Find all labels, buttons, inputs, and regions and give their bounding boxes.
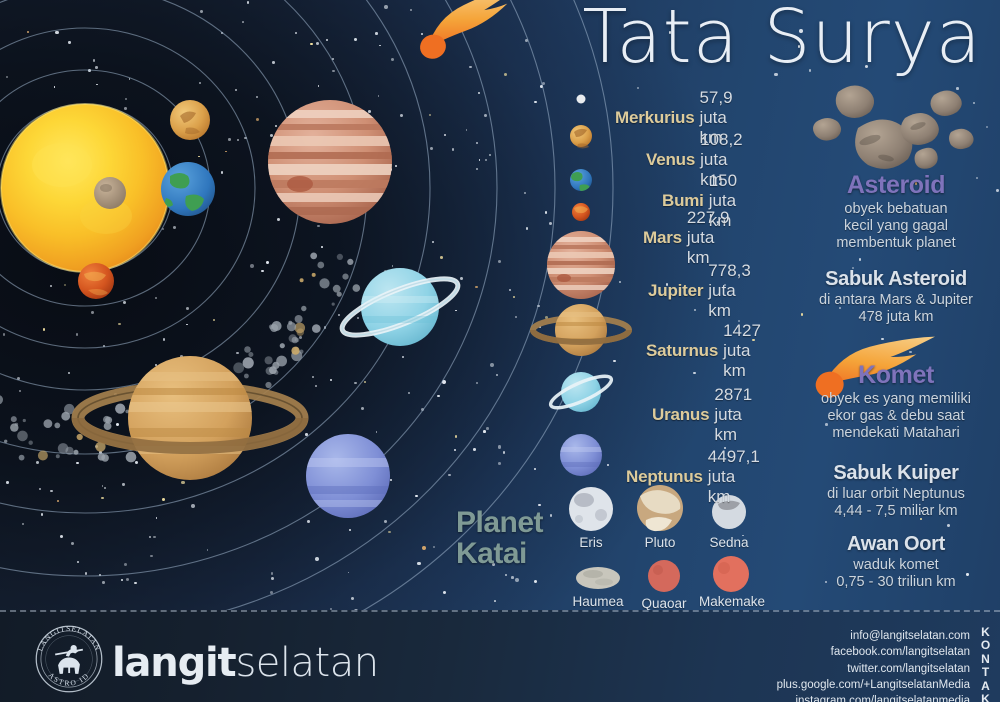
contact-email[interactable]: info@langitselatan.com <box>777 628 970 644</box>
contact-googleplus[interactable]: plus.google.com/+LangitselatanMedia <box>777 677 970 693</box>
comet-desc-line3: mendekati Matahari <box>800 425 992 442</box>
svg-text:ASTRO ID: ASTRO ID <box>47 671 92 688</box>
jupiter-body-diagram <box>268 100 392 224</box>
asteroid-block: Asteroid obyek bebatuan kecil yang gagal… <box>800 172 992 252</box>
comet-desc-line1: obyek es yang memiliki <box>800 391 992 408</box>
kontak-vertical-label: K O N T A K <box>979 626 993 702</box>
dwarf-label-sedna: Sedna <box>701 535 757 550</box>
mars-body-diagram <box>78 263 114 299</box>
planet-name-mars: Mars <box>643 228 682 248</box>
dwarf-planet-makemake: Makemake <box>696 592 768 609</box>
langitselatan-logo-icon: LANGITSELATAN ASTRO ID <box>30 620 108 698</box>
kuiper-belt-desc-line1: di luar orbit Neptunus <box>800 486 992 503</box>
planet-row-saturnus: Saturnus 1427 juta km <box>646 321 761 381</box>
kontak-letter-n: N <box>979 653 993 666</box>
contact-instagram[interactable]: instagram.com/langitselatanmedia <box>777 693 970 702</box>
mercury-body-diagram <box>94 177 126 209</box>
contact-twitter[interactable]: twitter.com/langitselatan <box>777 661 970 677</box>
planet-distance-jupiter: 778,3 juta km <box>708 261 751 321</box>
kontak-letter-t: T <box>979 666 993 679</box>
planet-row-mars: Mars 227,9 juta km <box>643 208 729 268</box>
planet-distance-mars: 227,9 juta km <box>687 208 730 268</box>
planet-name-venus: Venus <box>646 150 695 170</box>
uranus-icon <box>547 370 615 413</box>
earth-body-diagram <box>161 162 215 216</box>
venus-icon <box>570 125 592 149</box>
comet-illustration-top <box>410 0 535 62</box>
uranus-body-diagram <box>336 268 464 346</box>
dwarf-quaoar-icon <box>648 560 680 592</box>
planet-distance-uranus: 2871 juta km <box>714 385 752 445</box>
kuiper-belt-desc-line2: 4,44 - 7,5 miliar km <box>800 503 992 520</box>
kontak-letter-k1: K <box>979 626 993 639</box>
dwarf-planet-heading: Planet Katai <box>456 508 543 569</box>
dwarf-label-haumea: Haumea <box>566 594 630 609</box>
brand-wordmark: langitselatan <box>112 640 379 686</box>
comet-desc-line2: ekor gas & debu saat <box>800 408 992 425</box>
asteroid-heading: Asteroid <box>800 172 992 198</box>
saturn-icon <box>533 304 629 356</box>
dwarf-heading-line1: Planet <box>456 508 543 539</box>
dwarf-eris-icon <box>569 487 613 531</box>
mercury-icon <box>577 95 586 104</box>
oort-cloud-heading: Awan Oort <box>800 533 992 555</box>
planet-name-saturnus: Saturnus <box>646 341 718 361</box>
dwarf-label-pluto: Pluto <box>632 535 688 550</box>
dwarf-haumea-icon <box>576 567 620 589</box>
asteroid-belt-heading: Sabuk Asteroid <box>800 268 992 290</box>
dwarf-label-makemake: Makemake <box>696 594 768 609</box>
comet-block: Komet obyek es yang memiliki ekor gas & … <box>800 362 992 442</box>
starfield <box>0 0 1000 702</box>
planet-name-jupiter: Jupiter <box>648 281 703 301</box>
contact-facebook[interactable]: facebook.com/langitselatan <box>777 644 970 660</box>
planet-row-jupiter: Jupiter 778,3 juta km <box>648 261 751 321</box>
oort-cloud-block: Awan Oort waduk komet 0,75 - 30 triliun … <box>800 533 992 591</box>
planet-name-neptunus: Neptunus <box>626 467 703 487</box>
logo-centaur-figure <box>55 645 83 674</box>
brand-light: selatan <box>235 640 378 686</box>
neptune-body-diagram <box>304 434 394 518</box>
kontak-letter-k2: K <box>979 693 993 702</box>
asteroid-desc-line1: obyek bebatuan <box>800 201 992 218</box>
saturn-body-diagram <box>78 356 302 480</box>
footer: LANGITSELATAN ASTRO ID langitselatan inf… <box>0 610 1000 702</box>
oort-cloud-desc-line2: 0,75 - 30 triliun km <box>800 574 992 591</box>
earth-icon <box>570 169 592 193</box>
comet-heading: Komet <box>800 362 992 388</box>
venus-body-diagram <box>170 100 210 140</box>
kuiper-belt-block: Sabuk Kuiper di luar orbit Neptunus 4,44… <box>800 462 992 520</box>
neptune-icon <box>559 434 605 476</box>
orbit-diagram <box>0 0 1000 702</box>
contact-list: info@langitselatan.com facebook.com/lang… <box>777 628 970 702</box>
kuiper-belt-heading: Sabuk Kuiper <box>800 462 992 484</box>
planet-name-merkurius: Merkurius <box>615 108 694 128</box>
planet-row-uranus: Uranus 2871 juta km <box>652 385 752 445</box>
brand-bold: langit <box>112 640 235 686</box>
asteroid-desc-line3: membentuk planet <box>800 235 992 252</box>
dwarf-planet-eris: Eris <box>563 533 619 550</box>
asteroid-belt-scatter <box>0 253 360 463</box>
jupiter-icon <box>546 231 618 299</box>
svg-text:LANGITSELATAN: LANGITSELATAN <box>35 624 103 652</box>
dwarf-label-quaoar: Quaoar <box>634 596 694 611</box>
dwarf-planet-quaoar: Quaoar <box>634 594 694 611</box>
asteroid-belt-desc-line2: 478 juta km <box>800 309 992 326</box>
asteroid-belt-desc-line1: di antara Mars & Jupiter <box>800 292 992 309</box>
planet-distance-neptunus: 4497,1 juta km <box>708 447 760 507</box>
orbit-rings <box>0 0 613 685</box>
sun-body <box>1 104 169 272</box>
planet-distance-saturnus: 1427 juta km <box>723 321 761 381</box>
kontak-letter-o: O <box>979 639 993 652</box>
logo-arc-top-text: LANGITSELATAN <box>35 624 103 652</box>
dwarf-heading-line2: Katai <box>456 539 543 570</box>
planet-row-neptunus: Neptunus 4497,1 juta km <box>626 447 760 507</box>
logo-arc-bottom-text: ASTRO ID <box>47 671 92 688</box>
dwarf-label-eris: Eris <box>563 535 619 550</box>
infographic-poster: Tata Surya Merkurius 57,9 juta km Venus … <box>0 0 1000 702</box>
planet-name-uranus: Uranus <box>652 405 709 425</box>
asteroid-belt-block: Sabuk Asteroid di antara Mars & Jupiter … <box>800 268 992 326</box>
dwarf-makemake-icon <box>713 556 749 592</box>
asteroid-cluster-illustration <box>813 85 974 168</box>
dwarf-planet-haumea: Haumea <box>566 592 630 609</box>
asteroid-desc-line2: kecil yang gagal <box>800 218 992 235</box>
mars-icon <box>572 203 590 221</box>
page-title: Tata Surya <box>582 0 982 80</box>
dwarf-planet-pluto: Pluto <box>632 533 688 550</box>
dwarf-planet-sedna: Sedna <box>701 533 757 550</box>
kontak-letter-a: A <box>979 680 993 693</box>
oort-cloud-desc-line1: waduk komet <box>800 557 992 574</box>
